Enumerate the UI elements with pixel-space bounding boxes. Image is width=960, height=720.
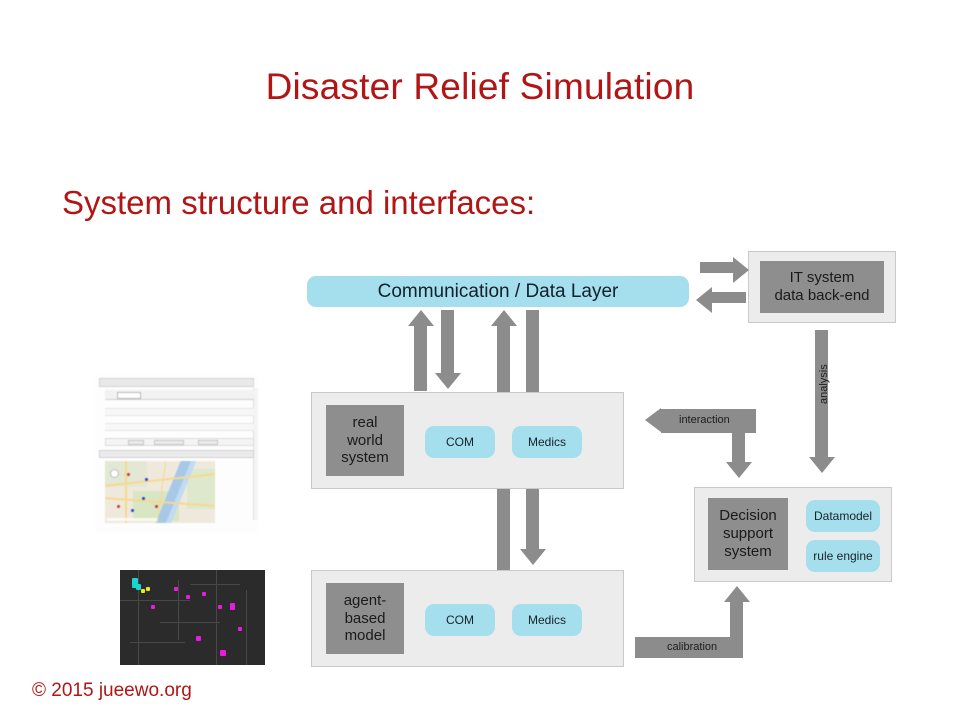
thumbnail-map-header xyxy=(99,450,254,458)
slide-canvas: Disaster Relief Simulation System struct… xyxy=(0,0,960,720)
thumbnail-table-row xyxy=(105,409,254,417)
thumbnail-search-field xyxy=(117,392,141,399)
abm-module-medics[interactable]: Medics xyxy=(512,604,582,636)
page-title: Disaster Relief Simulation xyxy=(0,66,960,108)
dss-label-line1: Decision xyxy=(719,507,777,525)
dss-label-line3: system xyxy=(724,543,772,561)
real-world-module-medics[interactable]: Medics xyxy=(512,426,582,458)
abm-label-line3: model xyxy=(345,627,386,645)
communication-data-layer-label: Communication / Data Layer xyxy=(378,281,619,303)
it-system-label-line1: IT system xyxy=(790,269,855,287)
arrow-label-interaction: interaction xyxy=(679,414,730,426)
dss-module-datamodel[interactable]: Datamodel xyxy=(806,500,880,532)
dss-module-datamodel-label: Datamodel xyxy=(814,509,872,523)
thumbnail-button xyxy=(128,440,144,445)
real-world-system-label-line3: system xyxy=(341,449,389,467)
real-world-system-label-line1: real xyxy=(352,414,377,432)
thumbnail-map-scalebar xyxy=(107,518,157,521)
copyright-notice: © 2015 jueewo.org xyxy=(32,680,192,702)
communication-data-layer-box[interactable]: Communication / Data Layer xyxy=(307,276,689,307)
abm-module-com[interactable]: COM xyxy=(425,604,495,636)
thumbnail-button-bar xyxy=(105,438,254,446)
abm-module-com-label: COM xyxy=(446,613,474,627)
thumbnail-titlebar xyxy=(99,378,254,387)
dss-label-line2: support xyxy=(723,525,773,543)
real-world-module-medics-label: Medics xyxy=(528,435,566,449)
real-world-module-com-label: COM xyxy=(446,435,474,449)
app-screenshot-thumbnail xyxy=(95,375,258,533)
slide-subtitle: System structure and interfaces: xyxy=(62,184,535,222)
dss-module-rule-engine[interactable]: rule engine xyxy=(806,540,880,572)
thumbnail-button xyxy=(198,440,218,445)
arrow-label-analysis: analysis xyxy=(818,364,830,404)
thumbnail-table-row xyxy=(105,401,254,409)
real-world-system-label-line2: world xyxy=(347,432,383,450)
thumbnail-map xyxy=(105,461,215,523)
agent-based-model-box[interactable]: agent- based model xyxy=(326,583,404,654)
thumbnail-button xyxy=(154,440,184,445)
arrow-label-calibration: calibration xyxy=(667,641,717,653)
dss-module-rule-engine-label: rule engine xyxy=(813,549,872,563)
thumbnail-table-row xyxy=(105,424,254,432)
it-system-label-line2: data back-end xyxy=(774,287,869,305)
abm-label-line2: based xyxy=(345,610,386,628)
decision-support-system-box[interactable]: Decision support system xyxy=(708,498,788,570)
thumbnail-table-row xyxy=(105,416,254,424)
simulation-view-thumbnail xyxy=(120,570,265,665)
real-world-module-com[interactable]: COM xyxy=(425,426,495,458)
abm-module-medics-label: Medics xyxy=(528,613,566,627)
it-system-box[interactable]: IT system data back-end xyxy=(760,261,884,313)
real-world-system-box[interactable]: real world system xyxy=(326,405,404,476)
abm-label-line1: agent- xyxy=(344,592,387,610)
